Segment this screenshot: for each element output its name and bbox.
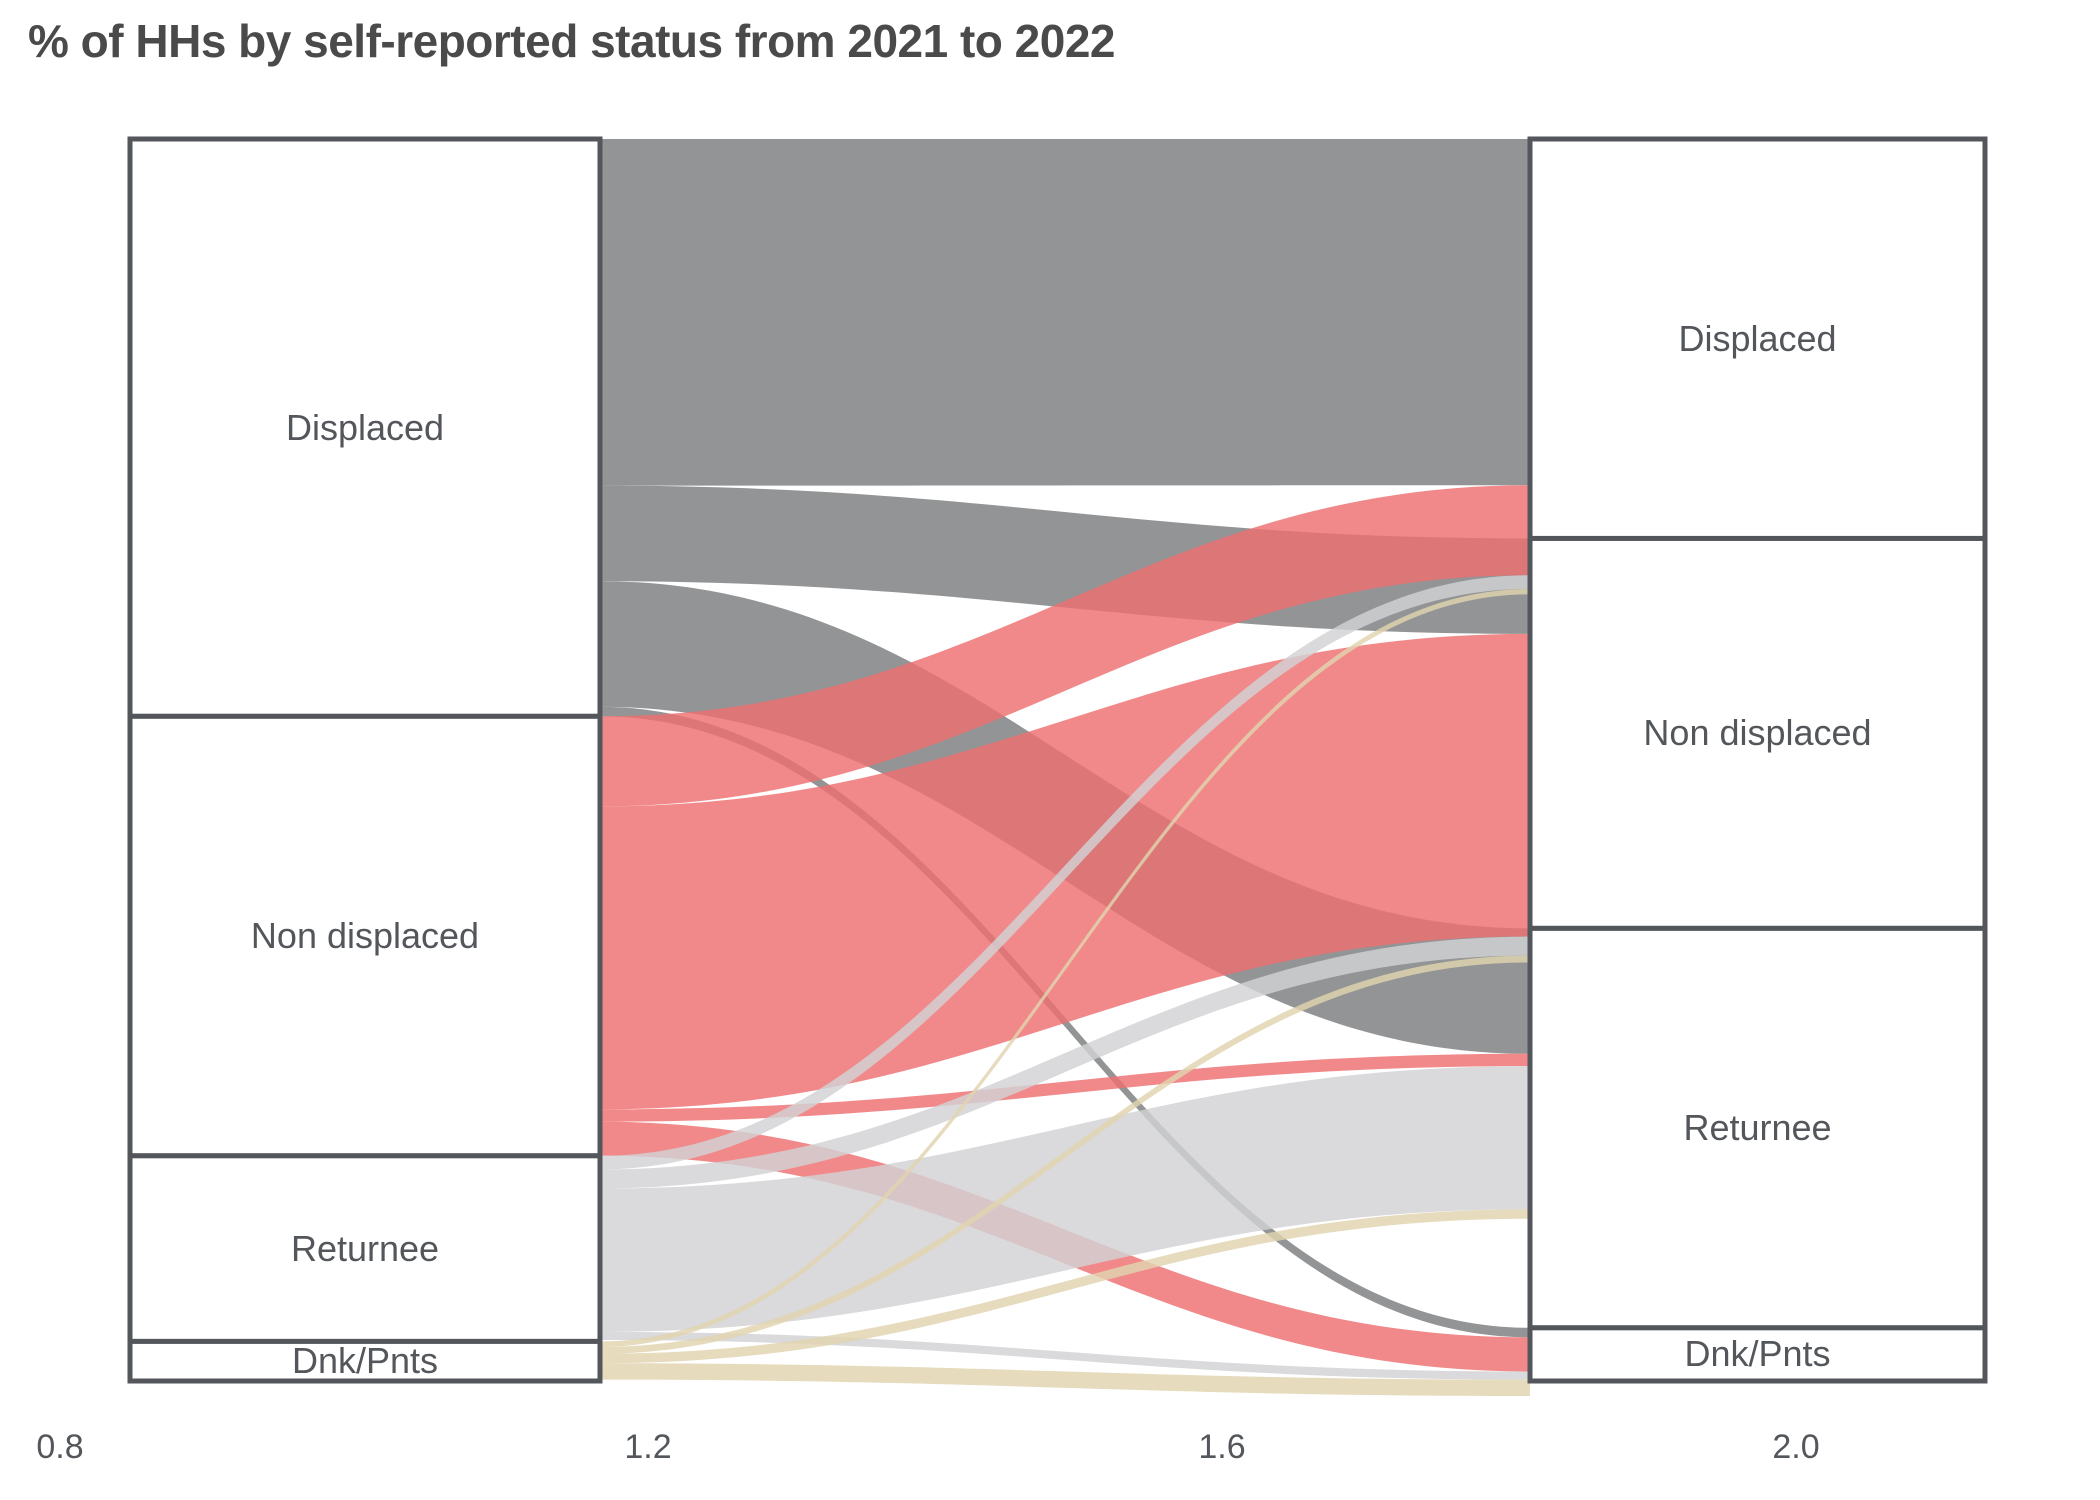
axis-tick-1: 1.2 — [624, 1428, 671, 1467]
right-node-non-displaced[interactable] — [1530, 538, 1985, 928]
axis-tick-3: 2.0 — [1772, 1428, 1819, 1467]
sankey-link[interactable] — [600, 1363, 1530, 1396]
left-node-displaced[interactable] — [130, 139, 600, 716]
right-node-dnk-pnts[interactable] — [1530, 1328, 1985, 1381]
sankey-chart-stage: % of HHs by self-reported status from 20… — [0, 0, 2100, 1500]
sankey-link[interactable] — [600, 1066, 1530, 1332]
left-node-returnee[interactable] — [130, 1156, 600, 1342]
left-node-non-displaced[interactable] — [130, 716, 600, 1155]
right-node-displaced[interactable] — [1530, 139, 1985, 538]
axis-tick-0: 0.8 — [36, 1428, 83, 1467]
sankey-links-layer — [600, 139, 1530, 1396]
right-node-returnee[interactable] — [1530, 928, 1985, 1327]
sankey-plot — [0, 0, 2100, 1500]
left-node-dnk-pnts[interactable] — [130, 1341, 600, 1381]
sankey-link[interactable] — [600, 139, 1530, 486]
axis-tick-2: 1.6 — [1198, 1428, 1245, 1467]
